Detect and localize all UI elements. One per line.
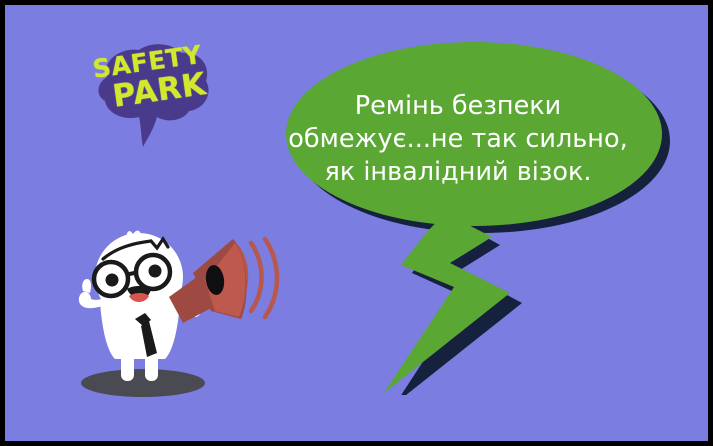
ground-shadow [81, 369, 205, 397]
glasses-left-lens-icon [94, 262, 128, 296]
poster-stage: Ремінь безпеки обмежує...не так сильно, … [5, 5, 708, 441]
speech-bubble: Ремінь безпеки обмежує...не так сильно, … [260, 35, 680, 395]
safety-park-logo: SAFETY PARK [77, 39, 217, 149]
mascot-left-thumb [82, 279, 91, 293]
mascot-character [65, 227, 295, 407]
speech-bubble-shape [260, 35, 680, 395]
mascot-illustration [65, 227, 295, 407]
poster-canvas: Ремінь безпеки обмежує...не так сильно, … [0, 0, 713, 446]
glasses-right-lens-icon [136, 255, 170, 289]
